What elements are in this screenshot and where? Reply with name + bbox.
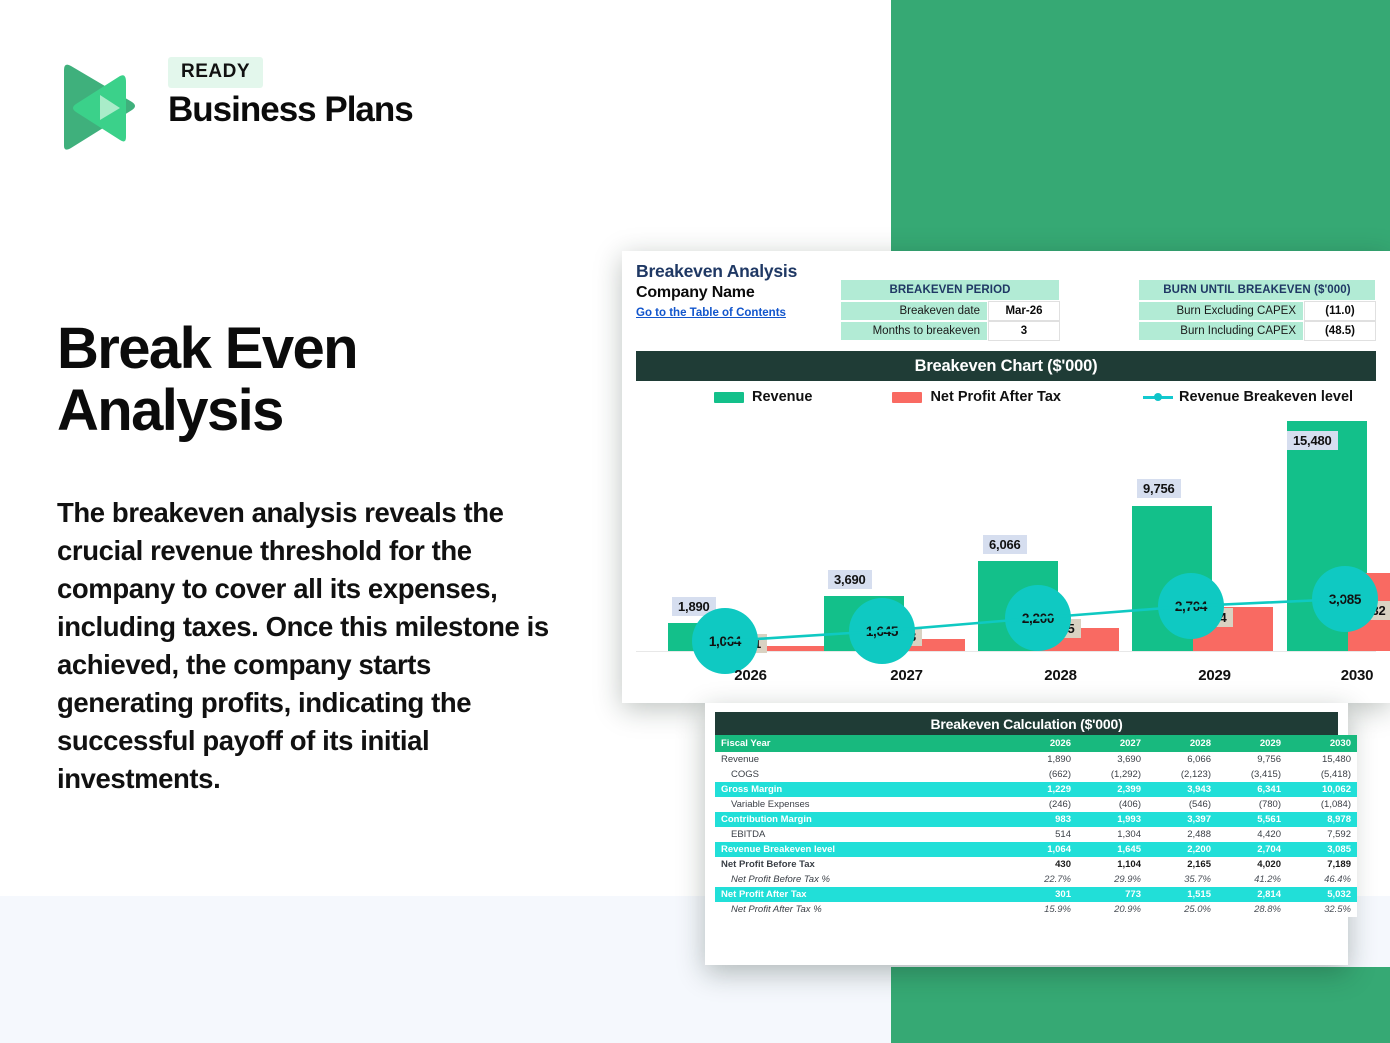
cell: 6,341 xyxy=(1217,782,1287,797)
cell: 28.8% xyxy=(1217,902,1287,917)
ready-badge: READY xyxy=(168,57,263,88)
kpi-row: Burn Excluding CAPEX (11.0) xyxy=(1138,301,1376,321)
legend-label-revenue: Revenue xyxy=(752,389,812,405)
table-row[interactable]: EBITDA5141,3042,4884,4207,592 xyxy=(715,827,1357,842)
burn-including-capex-value[interactable]: (48.5) xyxy=(1304,321,1376,341)
cell: (1,292) xyxy=(1077,767,1147,782)
background-block-bottom-right xyxy=(891,967,1390,1043)
col-header-2029: 2029 xyxy=(1217,735,1287,752)
cell: 32.5% xyxy=(1287,902,1357,917)
x-axis-label-2027: 2027 xyxy=(824,667,989,684)
col-header-2028: 2028 xyxy=(1147,735,1217,752)
cell: (546) xyxy=(1147,797,1217,812)
cell: 430 xyxy=(1007,857,1077,872)
cell: 3,085 xyxy=(1287,842,1357,857)
col-header-2026: 2026 xyxy=(1007,735,1077,752)
cell: 15.9% xyxy=(1007,902,1077,917)
months-to-breakeven-value[interactable]: 3 xyxy=(988,321,1060,341)
cell: (2,123) xyxy=(1147,767,1217,782)
cell: 3,397 xyxy=(1147,812,1217,827)
table-row[interactable]: Net Profit After Tax %15.9%20.9%25.0%28.… xyxy=(715,902,1357,917)
table-row[interactable]: Variable Expenses(246)(406)(546)(780)(1,… xyxy=(715,797,1357,812)
cell: 2,200 xyxy=(1147,842,1217,857)
table-row[interactable]: Net Profit After Tax3017731,5152,8145,03… xyxy=(715,887,1357,902)
cell: 5,561 xyxy=(1217,812,1287,827)
cell: 2,814 xyxy=(1217,887,1287,902)
x-axis-label-2026: 2026 xyxy=(668,667,833,684)
cell: 4,420 xyxy=(1217,827,1287,842)
kpi-breakeven-period-title: BREAKEVEN PERIOD xyxy=(840,279,1060,301)
breakeven-date-label: Breakeven date xyxy=(840,301,988,321)
table-row[interactable]: Net Profit Before Tax4301,1042,1654,0207… xyxy=(715,857,1357,872)
cell: 35.7% xyxy=(1147,872,1217,887)
breakeven-trend-line xyxy=(636,421,1376,651)
chart-legend: Revenue Net Profit After Tax Revenue Bre… xyxy=(636,384,1376,410)
cell: 773 xyxy=(1077,887,1147,902)
cell: (246) xyxy=(1007,797,1077,812)
row-label: Revenue Breakeven level xyxy=(715,842,1007,857)
burn-including-capex-label: Burn Including CAPEX xyxy=(1138,321,1304,341)
cell: 2,165 xyxy=(1147,857,1217,872)
play-triangle-logo-icon xyxy=(58,62,143,152)
row-label: EBITDA xyxy=(715,827,1007,842)
table-row[interactable]: Net Profit Before Tax %22.7%29.9%35.7%41… xyxy=(715,872,1357,887)
brand-logo: READY Business Plans xyxy=(58,57,438,157)
cell: 514 xyxy=(1007,827,1077,842)
calc-table: Fiscal Year 2026 2027 2028 2029 2030 Rev… xyxy=(715,735,1357,917)
brand-name: Business Plans xyxy=(168,92,413,129)
cell: 1,645 xyxy=(1077,842,1147,857)
cell: (3,415) xyxy=(1217,767,1287,782)
cell: 1,993 xyxy=(1077,812,1147,827)
cell: 41.2% xyxy=(1217,872,1287,887)
x-axis-label-2028: 2028 xyxy=(978,667,1143,684)
legend-swatch-revenue-icon xyxy=(714,392,744,403)
burn-excluding-capex-value[interactable]: (11.0) xyxy=(1304,301,1376,321)
page-title: Break Even Analysis xyxy=(57,318,577,442)
row-label: Net Profit After Tax xyxy=(715,887,1007,902)
row-label: Net Profit Before Tax % xyxy=(715,872,1007,887)
cell: 2,488 xyxy=(1147,827,1217,842)
cell: 2,399 xyxy=(1077,782,1147,797)
cell: 22.7% xyxy=(1007,872,1077,887)
kpi-row: Months to breakeven 3 xyxy=(840,321,1060,341)
row-label: Net Profit After Tax % xyxy=(715,902,1007,917)
cell: 5,032 xyxy=(1287,887,1357,902)
kpi-row: Burn Including CAPEX (48.5) xyxy=(1138,321,1376,341)
months-to-breakeven-label: Months to breakeven xyxy=(840,321,988,341)
slide-root: READY Business Plans Break Even Analysis… xyxy=(0,0,1390,1043)
breakeven-date-value[interactable]: Mar-26 xyxy=(988,301,1060,321)
legend-swatch-npat-icon xyxy=(892,392,922,403)
col-header-2027: 2027 xyxy=(1077,735,1147,752)
cell: 1,304 xyxy=(1077,827,1147,842)
legend-line-breakeven-icon xyxy=(1143,392,1173,403)
cell: (780) xyxy=(1217,797,1287,812)
cell: 1,104 xyxy=(1077,857,1147,872)
table-row[interactable]: Gross Margin1,2292,3993,9436,34110,062 xyxy=(715,782,1357,797)
cell: 25.0% xyxy=(1147,902,1217,917)
cell: 3,690 xyxy=(1077,752,1147,767)
cell: 3,943 xyxy=(1147,782,1217,797)
table-body: Revenue1,8903,6906,0669,75615,480 COGS(6… xyxy=(715,752,1357,917)
legend-item-npat[interactable]: Net Profit After Tax xyxy=(892,389,1061,405)
cell: 301 xyxy=(1007,887,1077,902)
cell: 29.9% xyxy=(1077,872,1147,887)
cell: 9,756 xyxy=(1217,752,1287,767)
row-label: Variable Expenses xyxy=(715,797,1007,812)
col-header-2030: 2030 xyxy=(1287,735,1357,752)
cell: 7,592 xyxy=(1287,827,1357,842)
legend-label-npat: Net Profit After Tax xyxy=(930,389,1061,405)
kpi-burn-title: BURN UNTIL BREAKEVEN ($'000) xyxy=(1138,279,1376,301)
cell: 20.9% xyxy=(1077,902,1147,917)
row-label: Contribution Margin xyxy=(715,812,1007,827)
cell: 1,229 xyxy=(1007,782,1077,797)
table-row[interactable]: Contribution Margin9831,9933,3975,5618,9… xyxy=(715,812,1357,827)
x-axis-label-2030: 2030 xyxy=(1287,667,1390,684)
cell: 983 xyxy=(1007,812,1077,827)
cell: 46.4% xyxy=(1287,872,1357,887)
cell: 4,020 xyxy=(1217,857,1287,872)
cell: (662) xyxy=(1007,767,1077,782)
row-label: Revenue xyxy=(715,752,1007,767)
burn-excluding-capex-label: Burn Excluding CAPEX xyxy=(1138,301,1304,321)
page-body-text: The breakeven analysis reveals the cruci… xyxy=(57,494,557,798)
row-label: Gross Margin xyxy=(715,782,1007,797)
table-row[interactable]: Revenue1,8903,6906,0669,75615,480 xyxy=(715,752,1357,767)
breakeven-calculation-panel: Breakeven Calculation ($'000) Fiscal Yea… xyxy=(705,703,1348,965)
chart-plot-area: 1,890 301 1,064 2026 3,690 773 1,645 202… xyxy=(636,421,1390,651)
cell: (406) xyxy=(1077,797,1147,812)
legend-item-breakeven[interactable]: Revenue Breakeven level xyxy=(1143,389,1353,405)
col-header-fiscal-year: Fiscal Year xyxy=(715,735,1007,752)
table-of-contents-link[interactable]: Go to the Table of Contents xyxy=(636,307,786,319)
cell: 1,515 xyxy=(1147,887,1217,902)
chart-title-bar: Breakeven Chart ($'000) xyxy=(636,351,1376,381)
row-label: Net Profit Before Tax xyxy=(715,857,1007,872)
x-axis-label-2029: 2029 xyxy=(1132,667,1297,684)
cell: 15,480 xyxy=(1287,752,1357,767)
cell: 1,064 xyxy=(1007,842,1077,857)
legend-label-breakeven: Revenue Breakeven level xyxy=(1179,389,1353,405)
legend-item-revenue[interactable]: Revenue xyxy=(714,389,812,405)
table-header-row: Fiscal Year 2026 2027 2028 2029 2030 xyxy=(715,735,1357,752)
table-row[interactable]: COGS(662)(1,292)(2,123)(3,415)(5,418) xyxy=(715,767,1357,782)
kpi-burn-until-breakeven: BURN UNTIL BREAKEVEN ($'000) Burn Exclud… xyxy=(1138,279,1376,341)
table-row[interactable]: Revenue Breakeven level1,0641,6452,2002,… xyxy=(715,842,1357,857)
cell: 2,704 xyxy=(1217,842,1287,857)
cell: 1,890 xyxy=(1007,752,1077,767)
background-block-top-right xyxy=(891,0,1390,252)
spreadsheet-header: Breakeven Analysis Company Name Go to th… xyxy=(622,251,1390,347)
row-label: COGS xyxy=(715,767,1007,782)
breakeven-chart-panel: Breakeven Analysis Company Name Go to th… xyxy=(622,251,1390,703)
calc-table-title: Breakeven Calculation ($'000) xyxy=(715,712,1338,735)
cell: (5,418) xyxy=(1287,767,1357,782)
cell: 6,066 xyxy=(1147,752,1217,767)
cell: 8,978 xyxy=(1287,812,1357,827)
kpi-breakeven-period: BREAKEVEN PERIOD Breakeven date Mar-26 M… xyxy=(840,279,1060,341)
cell: 10,062 xyxy=(1287,782,1357,797)
cell: (1,084) xyxy=(1287,797,1357,812)
cell: 7,189 xyxy=(1287,857,1357,872)
kpi-row: Breakeven date Mar-26 xyxy=(840,301,1060,321)
